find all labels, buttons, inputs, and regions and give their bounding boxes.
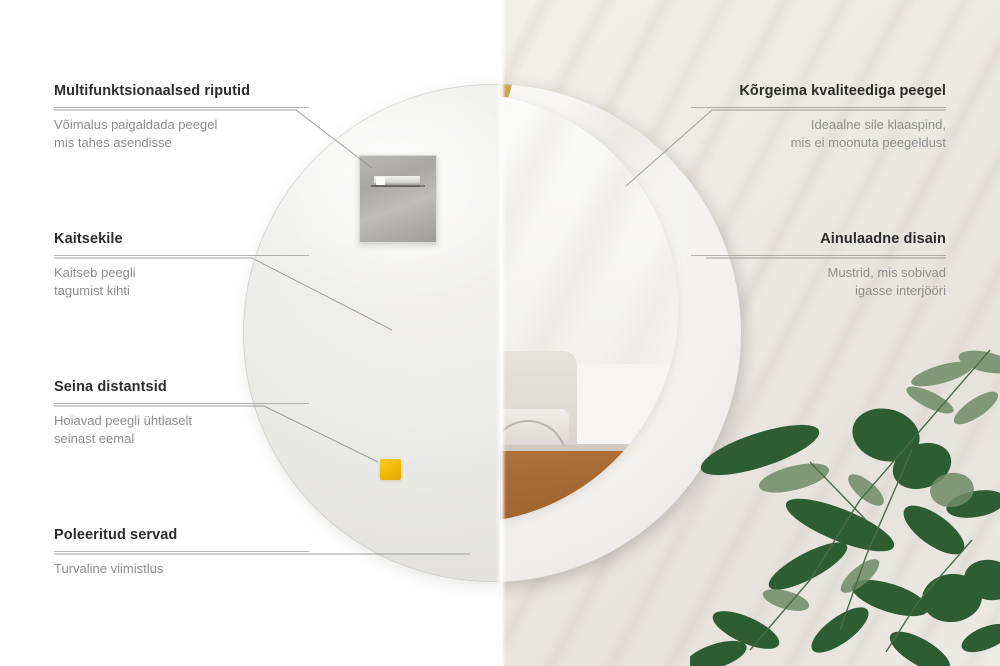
callout-line-1: Kaitseb peegli xyxy=(54,264,309,282)
callout-line-2: mis tahes asendisse xyxy=(54,134,309,152)
callout-line-2: seinast eemal xyxy=(54,430,309,448)
callout-line-1: Ideaalne sile klaaspind, xyxy=(691,116,946,134)
callout-title: Seina distantsid xyxy=(54,378,309,396)
infographic-canvas: Multifunktsionaalsed riputid Võimalus pa… xyxy=(0,0,1000,666)
callout-unique-design: Ainulaadne disain Mustrid, mis sobivad i… xyxy=(691,230,946,300)
callout-rule xyxy=(54,551,309,552)
callout-rule xyxy=(691,107,946,108)
callout-quality-mirror: Kõrgeima kvaliteediga peegel Ideaalne si… xyxy=(691,82,946,152)
callout-title: Poleeritud servad xyxy=(54,526,309,544)
callout-protective-film: Kaitsekile Kaitseb peegli tagumist kihti xyxy=(54,230,309,300)
callout-title: Ainulaadne disain xyxy=(691,230,946,248)
callout-line-2: mis ei moonuta peegeldust xyxy=(691,134,946,152)
callout-title: Multifunktsionaalsed riputid xyxy=(54,82,309,100)
callout-rule xyxy=(691,255,946,256)
callout-wall-spacers: Seina distantsid Hoiavad peegli ühtlasel… xyxy=(54,378,309,448)
callout-rule xyxy=(54,107,309,108)
callout-rule xyxy=(54,403,309,404)
callout-title: Kõrgeima kvaliteediga peegel xyxy=(691,82,946,100)
callout-title: Kaitsekile xyxy=(54,230,309,248)
callout-hangers: Multifunktsionaalsed riputid Võimalus pa… xyxy=(54,82,309,152)
callout-rule xyxy=(54,255,309,256)
callout-line-2: igasse interjööri xyxy=(691,282,946,300)
callout-line-1: Võimalus paigaldada peegel xyxy=(54,116,309,134)
callout-line-2: tagumist kihti xyxy=(54,282,309,300)
callout-polished-edges: Poleeritud servad Turvaline viimistlus xyxy=(54,526,309,578)
callout-line-1: Mustrid, mis sobivad xyxy=(691,264,946,282)
callout-line-1: Turvaline viimistlus xyxy=(54,560,309,578)
callout-line-1: Hoiavad peegli ühtlaselt xyxy=(54,412,309,430)
